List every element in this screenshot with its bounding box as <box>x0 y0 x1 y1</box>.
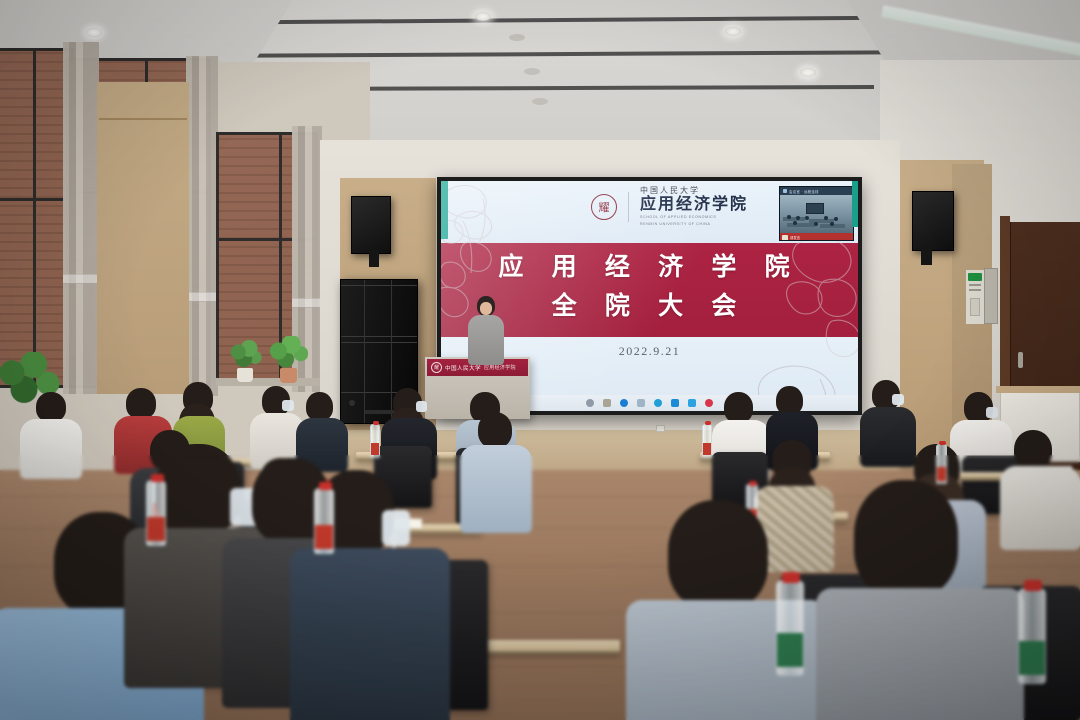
bottle-cap <box>749 481 757 486</box>
mail-icon[interactable] <box>637 399 645 407</box>
logo-english-line2: RENMIN UNIVERSITY OF CHINA <box>640 223 748 227</box>
curtain-left <box>63 42 99 394</box>
photo-canvas: 耀 中国人民大学 应用经济学院 SCHOOL OF APPLIED ECONOM… <box>0 0 1080 720</box>
university-seal-icon: 耀 <box>591 194 617 220</box>
water-bottle <box>146 480 166 546</box>
podium-seal-icon: 耀 <box>431 362 442 373</box>
chat-icon[interactable] <box>671 399 679 407</box>
logo-university-name: 中国人民大学 <box>640 187 748 195</box>
logo-divider <box>628 192 629 222</box>
video-call-footer-text: 请发言 <box>790 235 800 240</box>
ceiling-downlight <box>725 27 741 36</box>
slide-title-line1: 应 用 经 济 学 院 <box>441 247 858 283</box>
curtain-mid <box>186 56 218 396</box>
wall-control-panel[interactable] <box>984 268 998 324</box>
store-icon[interactable] <box>688 399 696 407</box>
bottle-label <box>777 633 803 667</box>
wall-outlet <box>656 425 665 432</box>
wall-speaker-right <box>912 191 954 251</box>
logo-english-line1: SCHOOL OF APPLIED ECONOMICS <box>640 216 748 220</box>
ceiling-downlight <box>475 12 491 21</box>
exit-sign <box>966 270 984 324</box>
door-handle[interactable] <box>1018 352 1023 368</box>
bottle-cap <box>319 482 332 490</box>
bottle-cap <box>1024 580 1042 591</box>
record-icon[interactable] <box>705 399 713 407</box>
circle-icon[interactable] <box>586 399 594 407</box>
presenter-face <box>480 302 492 315</box>
video-call-icon <box>783 189 787 193</box>
face-mask <box>382 510 410 546</box>
wall-speaker-left <box>351 196 391 254</box>
bottle-cap <box>151 474 164 482</box>
folder-icon[interactable] <box>603 399 611 407</box>
video-call-pip[interactable]: 会议室 · 远程连线 请发言 <box>779 186 854 241</box>
bottle-label <box>371 443 379 455</box>
video-call-footer: 请发言 <box>780 233 853 241</box>
bottle-cap <box>373 421 379 425</box>
water-bottle <box>936 444 947 484</box>
participant-avatar <box>782 235 788 241</box>
slide-logo: 耀 中国人民大学 应用经济学院 SCHOOL OF APPLIED ECONOM… <box>591 187 748 226</box>
video-call-video <box>780 195 853 233</box>
screen-edge-teal-left <box>441 181 448 239</box>
potted-plant <box>268 336 308 384</box>
bottle-label <box>1019 641 1045 675</box>
water-bottle <box>1018 588 1046 684</box>
bottle-label <box>147 517 165 541</box>
screen-edge-teal-right <box>852 181 858 227</box>
bottle-label <box>937 467 946 481</box>
video-call-title: 会议室 · 远程连线 <box>789 189 819 194</box>
edge-icon[interactable] <box>620 399 628 407</box>
wall-panel-trim <box>99 118 187 120</box>
ceiling-downlight <box>86 28 102 37</box>
water-bottle <box>702 424 712 458</box>
video-call-titlebar: 会议室 · 远程连线 <box>780 187 853 195</box>
browser-icon[interactable] <box>654 399 662 407</box>
cabinet-top <box>996 386 1080 393</box>
potted-plant <box>228 340 262 382</box>
logo-school-name: 应用经济学院 <box>640 197 748 213</box>
wall-panel-left <box>97 82 189 394</box>
bottle-label <box>703 443 711 455</box>
speaker-mount-left <box>369 250 379 267</box>
water-bottle <box>370 424 380 458</box>
presenter-body <box>468 315 504 365</box>
bottle-cap <box>939 441 946 445</box>
speaker-mount-right <box>921 247 932 265</box>
water-bottle <box>776 580 804 676</box>
bottle-cap <box>705 421 711 425</box>
ceiling-downlight <box>800 68 816 77</box>
bottle-cap <box>782 572 800 583</box>
remote-wall-display <box>806 203 824 214</box>
bottle-label <box>315 525 333 549</box>
water-bottle <box>314 488 334 554</box>
presenter <box>466 296 506 366</box>
